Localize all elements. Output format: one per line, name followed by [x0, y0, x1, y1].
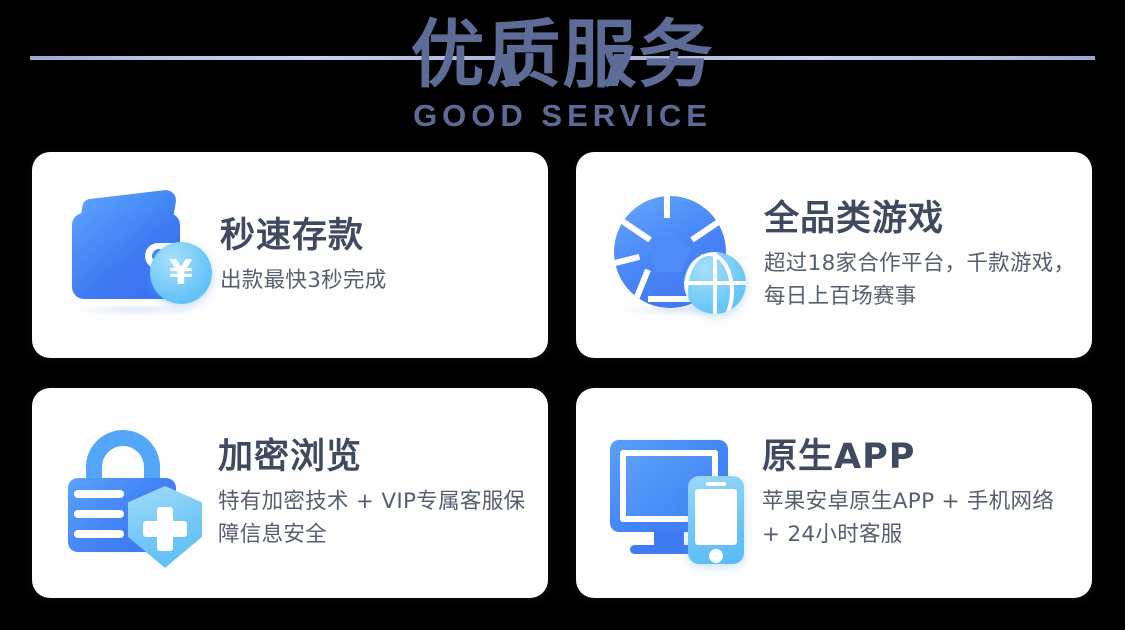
- seam: [664, 196, 670, 218]
- seam: [627, 269, 651, 308]
- yen-symbol: ¥: [169, 256, 193, 290]
- lock-slot: [74, 530, 124, 538]
- plus-icon: [157, 507, 173, 551]
- lock-slot: [74, 510, 124, 518]
- soccer-basketball-icon: [606, 180, 756, 330]
- phone-speaker-icon: [706, 482, 726, 486]
- feature-card-deposit[interactable]: ¥ 秒速存款 出款最快3秒完成: [32, 152, 548, 358]
- card-title: 全品类游戏: [764, 197, 1078, 241]
- card-text: 加密浏览 特有加密技术 + VIP专属客服保障信息安全: [210, 435, 548, 551]
- lock-shield-icon: [60, 418, 210, 568]
- card-text: 秒速存款 出款最快3秒完成: [212, 214, 548, 297]
- feature-card-games[interactable]: 全品类游戏 超过18家合作平台，千款游戏，每日上百场赛事: [576, 152, 1092, 358]
- phone-home-button-icon: [709, 549, 723, 563]
- yen-coin-icon: ¥: [150, 242, 212, 304]
- card-text: 原生APP 苹果安卓原生APP + 手机网络 + 24小时客服: [754, 435, 1092, 551]
- icon-shadow: [76, 304, 194, 316]
- card-title: 加密浏览: [218, 435, 534, 479]
- basketball-line: [684, 281, 746, 285]
- card-subtitle: 特有加密技术 + VIP专属客服保障信息安全: [218, 485, 534, 551]
- seam: [614, 212, 652, 243]
- feature-card-grid: ¥ 秒速存款 出款最快3秒完成: [0, 0, 1125, 630]
- card-text: 全品类游戏 超过18家合作平台，千款游戏，每日上百场赛事: [756, 197, 1092, 313]
- wallet-yen-icon: ¥: [62, 180, 212, 330]
- card-subtitle: 苹果安卓原生APP + 手机网络 + 24小时客服: [762, 485, 1078, 551]
- phone-screen-icon: [695, 489, 737, 545]
- card-subtitle: 出款最快3秒完成: [220, 264, 534, 297]
- soccer-pentagon-icon: [648, 232, 690, 272]
- lock-slot: [74, 490, 124, 498]
- feature-card-native-app[interactable]: 原生APP 苹果安卓原生APP + 手机网络 + 24小时客服: [576, 388, 1092, 598]
- card-title: 原生APP: [762, 435, 1078, 479]
- basketball-icon: [684, 252, 746, 314]
- feature-card-encryption[interactable]: 加密浏览 特有加密技术 + VIP专属客服保障信息安全: [32, 388, 548, 598]
- card-title: 秒速存款: [220, 214, 534, 258]
- monitor-phone-icon: [604, 418, 754, 568]
- seam: [614, 254, 640, 268]
- card-subtitle: 超过18家合作平台，千款游戏，每日上百场赛事: [764, 247, 1078, 313]
- seam: [690, 212, 726, 243]
